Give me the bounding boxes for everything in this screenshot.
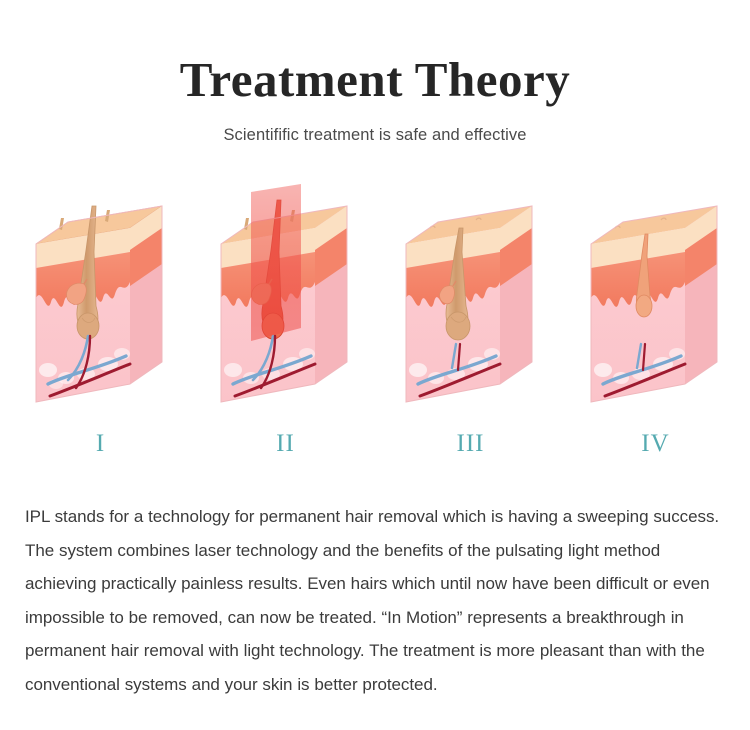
stage-panel-4: IV bbox=[563, 178, 748, 468]
page-header: Treatment Theory Scientifific treatment … bbox=[0, 0, 750, 146]
ipl-light-beam bbox=[251, 184, 301, 341]
skin-cross-section-diagram-3 bbox=[378, 178, 563, 438]
stage-numeral-1: I bbox=[8, 430, 193, 458]
skin-cross-section-diagram-1 bbox=[8, 178, 193, 438]
stage-panel-1: I bbox=[8, 178, 193, 468]
skin-cross-section-diagram-2 bbox=[193, 178, 378, 438]
stage-numeral-4: IV bbox=[563, 430, 748, 458]
stage-numeral-3: III bbox=[378, 430, 563, 458]
treatment-theory-page: Treatment Theory Scientifific treatment … bbox=[0, 0, 750, 730]
hair-bulb-shrunken bbox=[636, 295, 652, 317]
stage-panel-3: III bbox=[378, 178, 563, 468]
page-title: Treatment Theory bbox=[0, 52, 750, 108]
skin-cross-section-diagram-4 bbox=[563, 178, 748, 438]
page-subtitle: Scientifific treatment is safe and effec… bbox=[0, 124, 750, 146]
treatment-stages-figure: I bbox=[0, 178, 750, 468]
description-paragraph: IPL stands for a technology for permanen… bbox=[25, 500, 725, 701]
stage-panel-2: II bbox=[193, 178, 378, 468]
stage-numeral-2: II bbox=[193, 430, 378, 458]
hair-bulb bbox=[446, 312, 470, 340]
